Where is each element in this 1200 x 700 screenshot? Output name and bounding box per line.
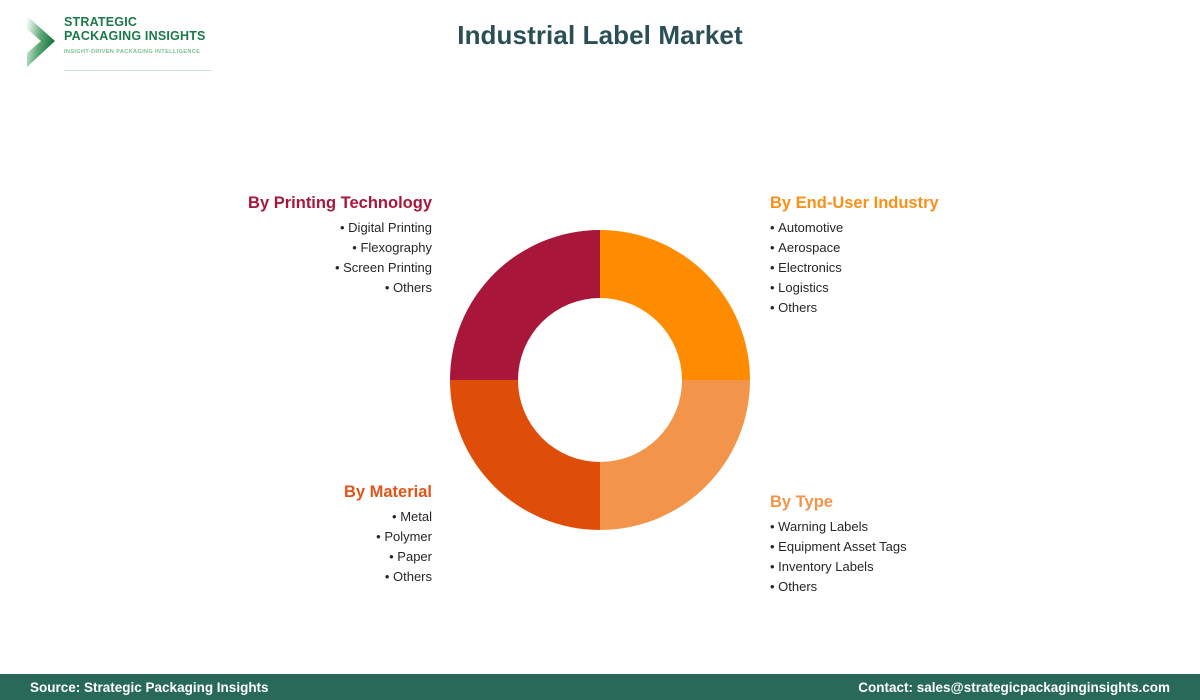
list-item-label: Metal xyxy=(400,509,432,524)
list-item: • Screen Printing xyxy=(150,258,432,278)
infographic-canvas: STRATEGIC PACKAGING INSIGHTS INSIGHT-DRI… xyxy=(0,0,1200,700)
bullet-icon: • xyxy=(770,539,778,554)
segment-title-end-user-industry: By End-User Industry xyxy=(770,194,1070,213)
list-item: • Aerospace xyxy=(770,238,1070,258)
bullet-icon: • xyxy=(770,280,778,295)
list-item-label: Paper xyxy=(397,549,432,564)
segment-block-printing-technology: By Printing Technology • Digital Printin… xyxy=(150,194,432,298)
segment-list-end-user-industry: • Automotive • Aerospace • Electronics •… xyxy=(770,218,1070,318)
footer-contact[interactable]: Contact: sales@strategicpackaginginsight… xyxy=(858,680,1170,695)
list-item-label: Inventory Labels xyxy=(778,559,873,574)
list-item: • Others xyxy=(770,577,1090,597)
bullet-icon: • xyxy=(770,579,778,594)
footer-bar: Source: Strategic Packaging Insights Con… xyxy=(0,674,1200,700)
segment-title-type: By Type xyxy=(770,493,1090,512)
list-item-label: Flexography xyxy=(360,240,432,255)
list-item: • Metal xyxy=(150,507,432,527)
list-item: • Inventory Labels xyxy=(770,557,1090,577)
list-item: • Polymer xyxy=(150,527,432,547)
list-item-label: Others xyxy=(393,280,432,295)
bullet-icon: • xyxy=(770,519,778,534)
list-item-label: Aerospace xyxy=(778,240,840,255)
bullet-icon: • xyxy=(770,300,778,315)
bullet-icon: • xyxy=(392,509,400,524)
list-item-label: Digital Printing xyxy=(348,220,432,235)
list-item: • Flexography xyxy=(150,238,432,258)
segment-title-printing-technology: By Printing Technology xyxy=(150,194,432,213)
donut-hole xyxy=(519,299,681,461)
list-item: • Warning Labels xyxy=(770,517,1090,537)
list-item: • Electronics xyxy=(770,258,1070,278)
segment-list-printing-technology: • Digital Printing • Flexography • Scree… xyxy=(150,218,432,298)
bullet-icon: • xyxy=(770,559,778,574)
bullet-icon: • xyxy=(385,569,393,584)
list-item-label: Screen Printing xyxy=(343,260,432,275)
logo-divider xyxy=(64,70,212,71)
segment-block-material: By Material • Metal • Polymer • Paper • … xyxy=(150,483,432,587)
segment-title-material: By Material xyxy=(150,483,432,502)
list-item: • Logistics xyxy=(770,278,1070,298)
list-item-label: Others xyxy=(778,300,817,315)
bullet-icon: • xyxy=(340,220,348,235)
segment-list-material: • Metal • Polymer • Paper • Others xyxy=(150,507,432,587)
segment-block-end-user-industry: By End-User Industry • Automotive • Aero… xyxy=(770,194,1070,318)
list-item-label: Electronics xyxy=(778,260,842,275)
segment-list-type: • Warning Labels • Equipment Asset Tags … xyxy=(770,517,1090,597)
bullet-icon: • xyxy=(770,260,778,275)
list-item: • Others xyxy=(150,567,432,587)
bullet-icon: • xyxy=(770,240,778,255)
list-item-label: Automotive xyxy=(778,220,843,235)
list-item: • Others xyxy=(150,278,432,298)
list-item: • Automotive xyxy=(770,218,1070,238)
page-title: Industrial Label Market xyxy=(0,20,1200,51)
list-item-label: Warning Labels xyxy=(778,519,868,534)
bullet-icon: • xyxy=(335,260,343,275)
bullet-icon: • xyxy=(385,280,393,295)
list-item: • Digital Printing xyxy=(150,218,432,238)
donut-chart xyxy=(450,230,750,530)
list-item-label: Logistics xyxy=(778,280,829,295)
list-item-label: Others xyxy=(393,569,432,584)
list-item-label: Polymer xyxy=(384,529,432,544)
list-item: • Others xyxy=(770,298,1070,318)
list-item: • Paper xyxy=(150,547,432,567)
footer-source: Source: Strategic Packaging Insights xyxy=(30,680,269,695)
list-item-label: Others xyxy=(778,579,817,594)
list-item-label: Equipment Asset Tags xyxy=(778,539,906,554)
segment-block-type: By Type • Warning Labels • Equipment Ass… xyxy=(770,493,1090,597)
list-item: • Equipment Asset Tags xyxy=(770,537,1090,557)
bullet-icon: • xyxy=(770,220,778,235)
